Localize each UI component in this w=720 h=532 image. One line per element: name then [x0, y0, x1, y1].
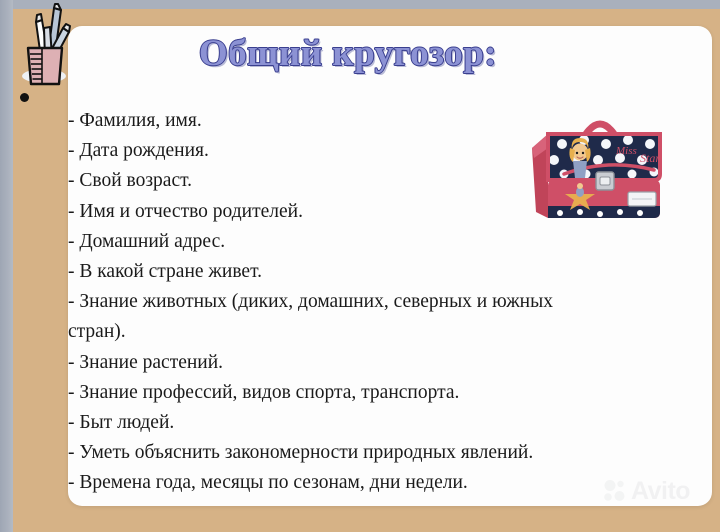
list-item: - Быт людей.	[68, 408, 668, 438]
list-item: - Знание животных (диких, домашних, севе…	[68, 287, 668, 317]
top-edge-strip	[0, 0, 720, 9]
school-satchel-icon: Miss Star	[524, 108, 676, 232]
list-item-continuation: стран).	[68, 317, 668, 347]
list-item: - Уметь объяснить закономерности природн…	[68, 438, 668, 468]
list-item: - Времена года, месяцы по сезонам, дни н…	[68, 468, 668, 498]
list-item: - В какой стране живет.	[68, 257, 668, 287]
svg-text:Star: Star	[640, 151, 660, 165]
decorative-dot	[20, 93, 29, 102]
slide-title: Общий кругозор:	[68, 32, 628, 76]
satchel-brand-text: Miss	[615, 145, 637, 157]
list-item: - Знание профессий, видов спорта, трансп…	[68, 378, 668, 408]
left-edge-strip	[0, 0, 13, 532]
slide-canvas: Общий кругозор: - Фамилия, имя. - Дата р…	[0, 0, 720, 532]
list-item: - Знание растений.	[68, 348, 668, 378]
